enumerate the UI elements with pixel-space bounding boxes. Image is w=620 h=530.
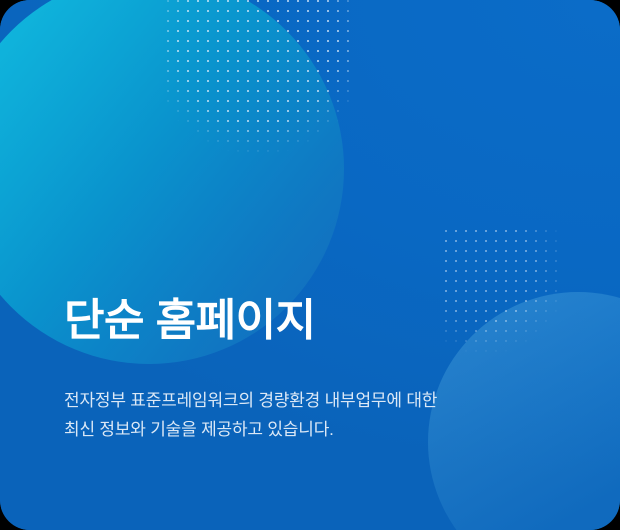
page-title: 단순 홈페이지 [64,292,574,350]
hero-subtitle-line-1: 전자정부 표준프레임워크의 경량환경 내부업무에 대한 [64,386,574,415]
dot-pattern-top-icon [163,0,353,166]
hero-content: 단순 홈페이지 전자정부 표준프레임워크의 경량환경 내부업무에 대한 최신 정… [64,292,574,444]
hero-subtitle: 전자정부 표준프레임워크의 경량환경 내부업무에 대한 최신 정보와 기술을 제… [64,350,574,444]
hero-subtitle-line-2: 최신 정보와 기술을 제공하고 있습니다. [64,415,574,444]
hero-banner: 단순 홈페이지 전자정부 표준프레임워크의 경량환경 내부업무에 대한 최신 정… [0,0,620,530]
